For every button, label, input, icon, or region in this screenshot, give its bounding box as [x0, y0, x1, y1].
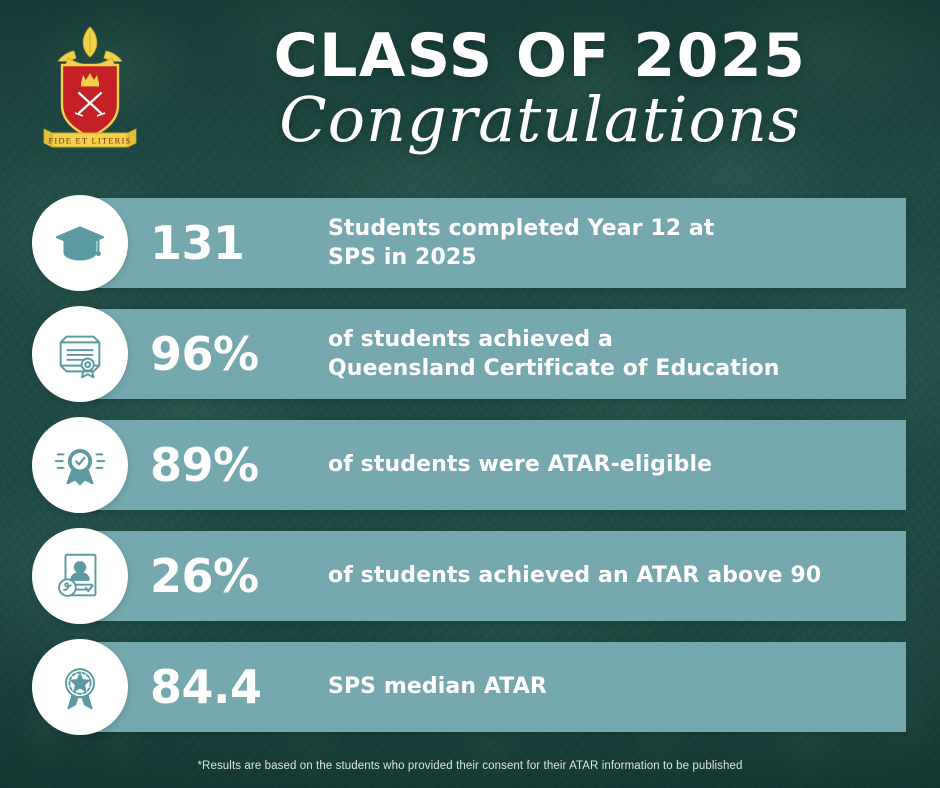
stat-label: of students were ATAR-eligible	[328, 420, 914, 510]
school-crest-icon: FIDE ET LITERIS	[38, 21, 142, 155]
stat-value: 89%	[150, 420, 320, 510]
page-subtitle: Congratulations	[160, 89, 920, 151]
footnote: *Results are based on the students who p…	[0, 760, 940, 772]
stat-label-line: of students achieved a	[328, 325, 780, 354]
class-of-2025-infographic: FIDE ET LITERIS CLASS OF 2025 Congratula…	[0, 0, 940, 788]
stat-label-line: of students achieved an ATAR above 90	[328, 561, 821, 590]
student-id-card-icon	[32, 528, 128, 624]
star-medal-icon	[32, 639, 128, 735]
stat-value: 96%	[150, 309, 320, 399]
graduation-cap-icon	[32, 195, 128, 291]
stat-row: 96% of students achieved a Queensland Ce…	[0, 309, 940, 399]
stat-label: SPS median ATAR	[328, 642, 914, 732]
stat-label-line: SPS median ATAR	[328, 672, 547, 701]
stat-value: 84.4	[150, 642, 320, 732]
stat-label-line: of students were ATAR-eligible	[328, 450, 712, 479]
poster-header: FIDE ET LITERIS CLASS OF 2025 Congratula…	[0, 0, 940, 188]
title-block: CLASS OF 2025 Congratulations	[160, 14, 920, 151]
stat-label: Students completed Year 12 at SPS in 202…	[328, 198, 914, 288]
stat-row: 84.4 SPS median ATAR	[0, 642, 940, 732]
stat-row: 89% of students were ATAR-eligible	[0, 420, 940, 510]
page-title: CLASS OF 2025	[160, 26, 920, 87]
stat-label: of students achieved a Queensland Certif…	[328, 309, 914, 399]
stat-value: 26%	[150, 531, 320, 621]
stat-label-line: Students completed Year 12 at	[328, 214, 714, 243]
crest-motto: FIDE ET LITERIS	[48, 136, 131, 146]
award-check-icon	[32, 417, 128, 513]
stat-label-line: Queensland Certificate of Education	[328, 354, 780, 383]
stat-row: 131 Students completed Year 12 at SPS in…	[0, 198, 940, 288]
stat-label-line: SPS in 2025	[328, 243, 714, 272]
stat-value: 131	[150, 198, 320, 288]
stat-row: 26% of students achieved an ATAR above 9…	[0, 531, 940, 621]
certificate-icon	[32, 306, 128, 402]
stats-list: 131 Students completed Year 12 at SPS in…	[0, 198, 940, 753]
stat-label: of students achieved an ATAR above 90	[328, 531, 914, 621]
